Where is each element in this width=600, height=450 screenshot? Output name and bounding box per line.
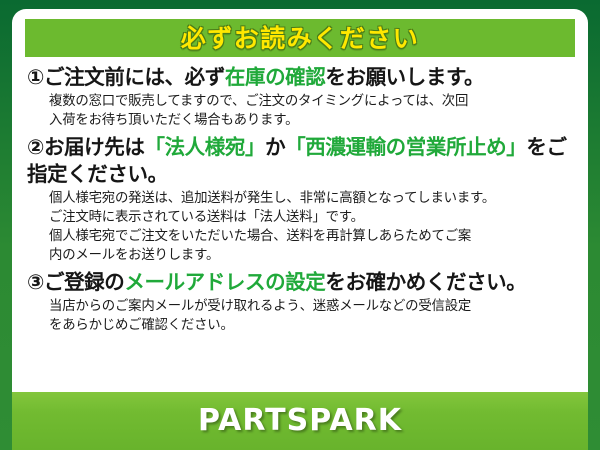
notice-item-1-body-line-2: 入荷をお待ち頂いただく場合もあります。: [49, 111, 573, 130]
notice-item-3-body-line-1: 当店からのご案内メールが受け取れるよう、迷惑メールなどの受信設定: [49, 297, 573, 316]
notice-item-1-marker: ①: [27, 65, 44, 89]
notice-item-2-body: 個人様宅宛の発送は、追加送料が発生し、非常に高額となってしまいます。 ご注文時に…: [49, 189, 573, 265]
notice-item-1-heading-post: をお願いします。: [325, 65, 484, 89]
notice-item-2-heading-highlight-2: 「西濃運輸の営業所止め」: [285, 135, 526, 159]
title-banner-text: 必ずお読みください: [181, 26, 420, 51]
notice-item-2-body-line-4: 内のメールをお送りします。: [49, 246, 573, 265]
partspark-logo: PARTSPARK: [198, 406, 402, 436]
notice-item-3-heading-pre: ご登録の: [44, 270, 124, 294]
footer-bar: PARTSPARK: [12, 392, 588, 450]
notice-item-3-body-line-2: をあらかじめご確認ください。: [49, 316, 573, 335]
notice-items-list: ①ご注文前には、必ず在庫の確認をお願いします。 複数の窓口で販売してますので、ご…: [25, 57, 575, 392]
notice-item-2-marker: ②: [27, 135, 44, 159]
notice-item-3-heading: ③ご登録のメールアドレスの設定をお確かめください。: [27, 269, 573, 295]
notice-item-3-heading-post: をお確かめください。: [325, 270, 526, 294]
notice-card: 必ずお読みください ①ご注文前には、必ず在庫の確認をお願いします。 複数の窓口で…: [0, 0, 600, 450]
notice-item-3-body: 当店からのご案内メールが受け取れるよう、迷惑メールなどの受信設定 をあらかじめご…: [49, 297, 573, 335]
notice-item-2-heading: ②お届け先は「法人様宛」か「西濃運輸の営業所止め」をご指定ください。: [27, 134, 573, 186]
title-banner: 必ずお読みください: [25, 19, 575, 57]
notice-item-1-body-line-1: 複数の窓口で販売してますので、ご注文のタイミングによっては、次回: [49, 92, 573, 111]
notice-item-2-body-line-2: ご注文時に表示されている送料は「法人送料」です。: [49, 208, 573, 227]
notice-panel: 必ずお読みください ①ご注文前には、必ず在庫の確認をお願いします。 複数の窓口で…: [12, 9, 588, 392]
notice-item-2: ②お届け先は「法人様宛」か「西濃運輸の営業所止め」をご指定ください。 個人様宅宛…: [27, 134, 573, 265]
notice-item-3-marker: ③: [27, 270, 44, 294]
notice-item-1-heading-highlight: 在庫の確認: [225, 65, 326, 89]
notice-item-3: ③ご登録のメールアドレスの設定をお確かめください。 当店からのご案内メールが受け…: [27, 269, 573, 335]
notice-item-1-heading-pre: ご注文前には、必ず: [44, 65, 225, 89]
notice-item-1: ①ご注文前には、必ず在庫の確認をお願いします。 複数の窓口で販売してますので、ご…: [27, 64, 573, 130]
notice-item-1-body: 複数の窓口で販売してますので、ご注文のタイミングによっては、次回 入荷をお待ち頂…: [49, 92, 573, 130]
notice-item-2-body-line-1: 個人様宅宛の発送は、追加送料が発生し、非常に高額となってしまいます。: [49, 189, 573, 208]
notice-item-2-heading-pre: お届け先は: [44, 135, 145, 159]
notice-item-2-heading-mid: か: [265, 135, 285, 159]
notice-item-2-body-line-3: 個人様宅宛でご注文をいただいた場合、送料を再計算しあらためてご案: [49, 227, 573, 246]
notice-item-3-heading-highlight: メールアドレスの設定: [124, 270, 325, 294]
notice-item-2-heading-highlight: 「法人様宛」: [144, 135, 265, 159]
notice-item-1-heading: ①ご注文前には、必ず在庫の確認をお願いします。: [27, 64, 573, 90]
